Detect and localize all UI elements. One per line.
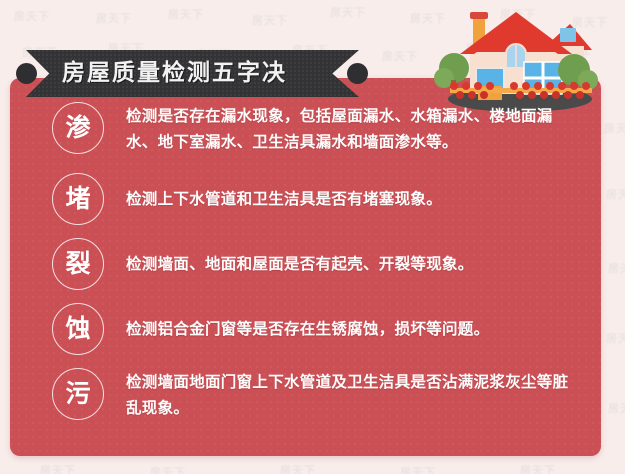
watermark-text: 房天下 — [280, 462, 316, 474]
list-item: 裂 检测墙面、地面和屋面是否有起壳、开裂等现象。 — [10, 238, 601, 290]
list-item: 蚀 检测铝合金门窗等是否存在生锈腐蚀，损坏等问题。 — [10, 303, 601, 355]
watermark-text: 房天下 — [400, 464, 436, 474]
watermark-text: 房天下 — [40, 462, 76, 474]
watermark-text: 房天下 — [606, 330, 625, 346]
watermark-text: 房天下 — [520, 462, 556, 474]
watermark-text: 房天下 — [150, 464, 186, 474]
watermark-text: 房天下 — [330, 4, 366, 20]
description-corrosion: 检测铝合金门窗等是否存在生锈腐蚀，损坏等问题。 — [126, 303, 577, 342]
badge-corrosion: 蚀 — [52, 303, 104, 355]
list-item: 渗 检测是否存在漏水现象，包括屋面漏水、水箱漏水、楼地面漏水、地下室漏水、卫生洁… — [10, 102, 601, 155]
description-seepage: 检测是否存在漏水现象，包括屋面漏水、水箱漏水、楼地面漏水、地下室漏水、卫生洁具漏… — [126, 102, 577, 155]
key-points-list: 渗 检测是否存在漏水现象，包括屋面漏水、水箱漏水、楼地面漏水、地下室漏水、卫生洁… — [10, 78, 601, 456]
infographic-page: 房天下房天下房天下房天下房天下房天下房天下房天下房天下房天下房天下房天下房天下房… — [0, 0, 625, 474]
watermark-text: 房天下 — [382, 48, 418, 64]
watermark-text: 房天下 — [606, 186, 625, 202]
watermark-text: 房天下 — [96, 10, 132, 26]
watermark-text: 房天下 — [608, 260, 625, 276]
list-item: 堵 检测上下水管道和卫生洁具是否有堵塞现象。 — [10, 173, 601, 225]
description-cracking: 检测墙面、地面和屋面是否有起壳、开裂等现象。 — [126, 238, 577, 277]
watermark-text: 房天下 — [604, 120, 625, 136]
description-blockage: 检测上下水管道和卫生洁具是否有堵塞现象。 — [126, 173, 577, 212]
chimney-cap — [470, 12, 488, 19]
watermark-text: 房天下 — [168, 6, 204, 22]
watermark-text: 房天下 — [14, 8, 50, 24]
badge-seepage: 渗 — [52, 102, 104, 154]
badge-blockage: 堵 — [52, 173, 104, 225]
list-item: 污 检测墙面地面门窗上下水管道及卫生洁具是否沾满泥浆灰尘等脏乱现象。 — [10, 368, 601, 421]
description-dirt: 检测墙面地面门窗上下水管道及卫生洁具是否沾满泥浆灰尘等脏乱现象。 — [126, 368, 577, 421]
watermark-text: 房天下 — [252, 12, 288, 28]
watermark-text: 房天下 — [608, 400, 625, 416]
badge-dirt: 污 — [52, 368, 104, 420]
side-window — [560, 28, 576, 42]
badge-cracking: 裂 — [52, 238, 104, 290]
